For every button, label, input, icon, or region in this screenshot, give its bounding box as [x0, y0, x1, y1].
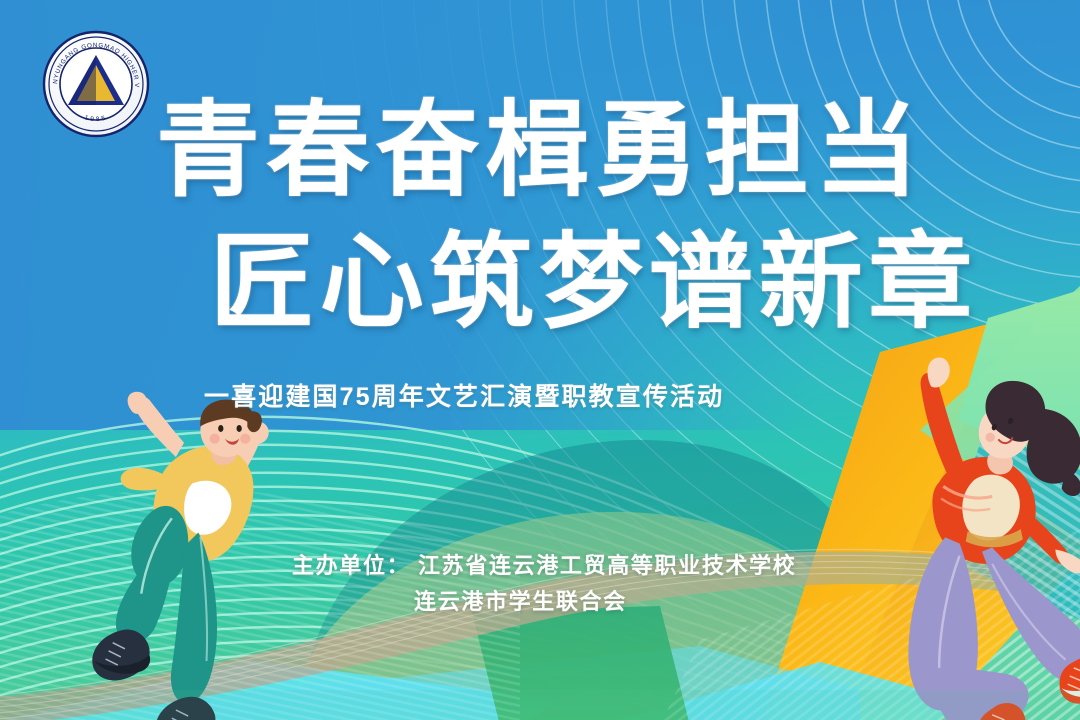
- event-poster: JIANGSU LIANYUNGANG GONGMAO HIGHER VOCAT…: [0, 0, 1080, 720]
- school-emblem-logo: JIANGSU LIANYUNGANG GONGMAO HIGHER VOCAT…: [41, 29, 151, 139]
- background-gradient: [0, 0, 1080, 720]
